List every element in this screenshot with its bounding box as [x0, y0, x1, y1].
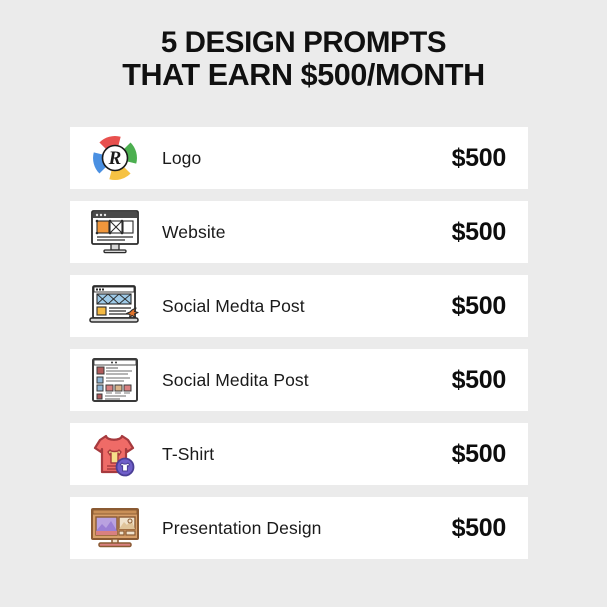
- list-item-label: Social Medta Post: [156, 296, 403, 317]
- logo-r-badge-icon: R: [70, 127, 156, 189]
- list-item[interactable]: Social Medita Post $500: [70, 349, 528, 411]
- title-line-2: THAT EARN $500/MONTH: [0, 59, 607, 92]
- t-shirt-icon: [70, 423, 156, 485]
- list-item-label: Logo: [156, 148, 403, 169]
- svg-text:R: R: [108, 148, 122, 169]
- list-item-price: $500: [403, 292, 528, 321]
- page-title: 5 DESIGN PROMPTS THAT EARN $500/MONTH: [0, 26, 607, 92]
- list-item-label: Presentation Design: [156, 518, 403, 539]
- desktop-monitor-wireframe-icon: [70, 201, 156, 263]
- laptop-social-banner-icon: [70, 275, 156, 337]
- list-item[interactable]: Social Medta Post $500: [70, 275, 528, 337]
- list-item[interactable]: R Logo $500: [70, 127, 528, 189]
- list-item-price: $500: [403, 440, 528, 469]
- list-item-price: $500: [403, 144, 528, 173]
- presentation-board-icon: [70, 497, 156, 559]
- prompt-list: R Logo $500: [70, 127, 528, 571]
- list-item[interactable]: T-Shirt $500: [70, 423, 528, 485]
- list-item-price: $500: [403, 366, 528, 395]
- social-feed-window-icon: [70, 349, 156, 411]
- list-item[interactable]: Presentation Design $500: [70, 497, 528, 559]
- list-item-price: $500: [403, 218, 528, 247]
- list-item-label: Social Medita Post: [156, 370, 403, 391]
- list-item-price: $500: [403, 514, 528, 543]
- title-line-1: 5 DESIGN PROMPTS: [0, 26, 607, 59]
- list-item-label: T-Shirt: [156, 444, 403, 465]
- list-item[interactable]: Website $500: [70, 201, 528, 263]
- list-item-label: Website: [156, 222, 403, 243]
